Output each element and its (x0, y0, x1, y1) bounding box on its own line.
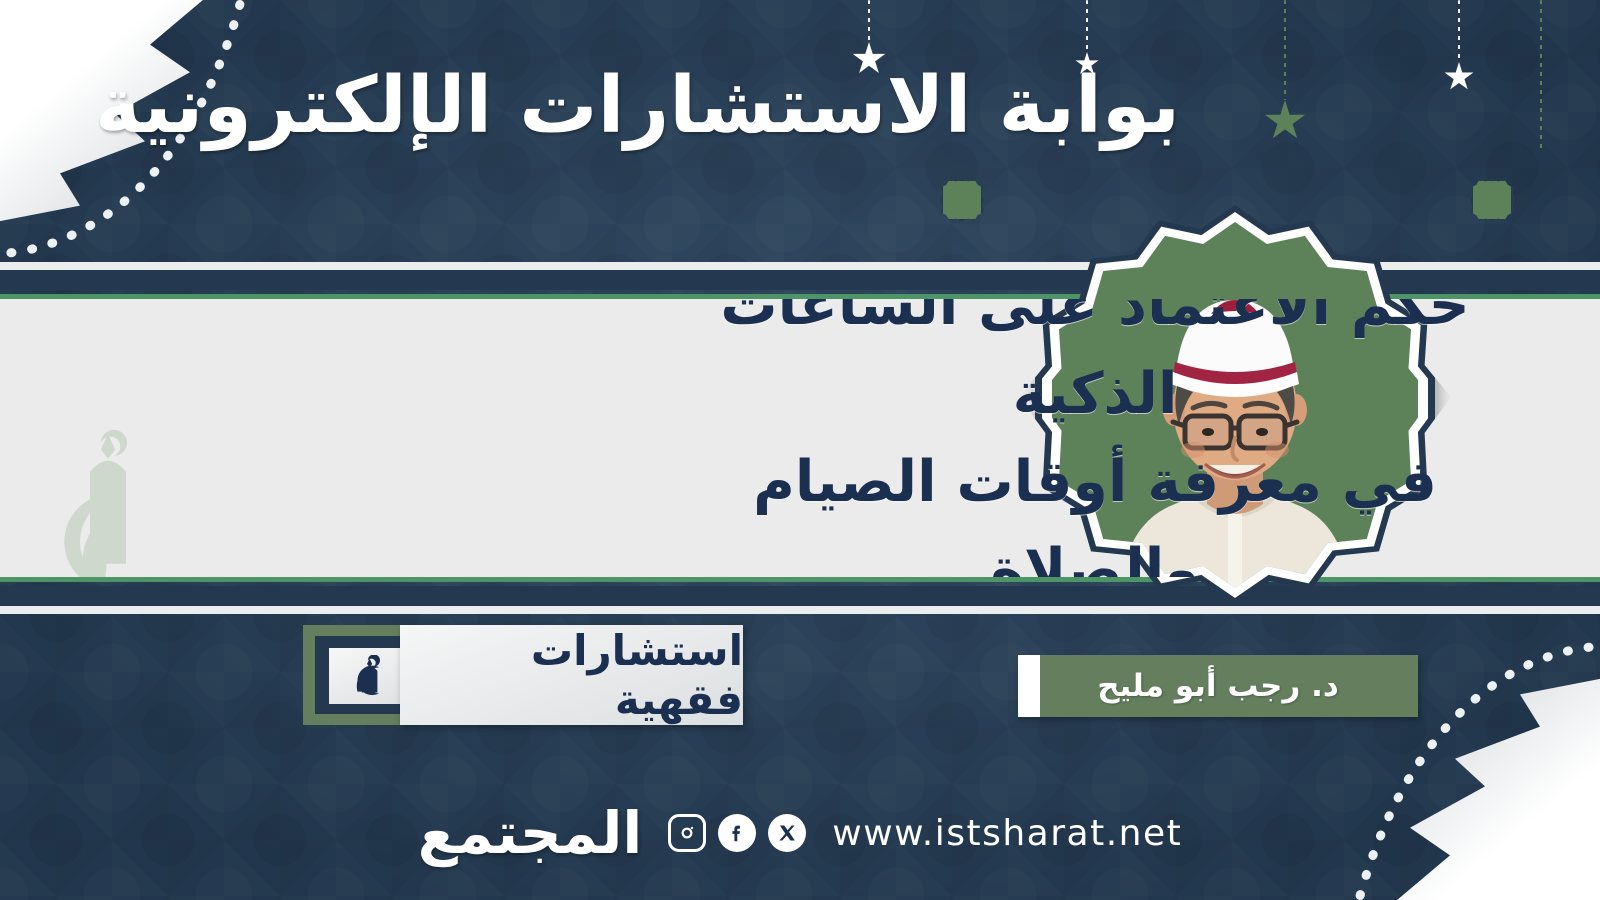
band-white-stripe-bottom (0, 606, 1600, 614)
hanging-thread (1086, 0, 1088, 52)
flower-rosette-ornament-left (940, 178, 984, 222)
hanging-thread (1284, 0, 1286, 100)
star-icon (1444, 62, 1474, 92)
hanging-thread (1540, 0, 1542, 150)
title-line-1: حكم الاعتماد على الساعات الذكية (640, 299, 1550, 438)
poster-canvas: بوابة الاستشارات الإلكترونية حكم الاعتما… (0, 0, 1600, 900)
speaker-name: د. رجب أبو مليح (1097, 668, 1339, 704)
x-twitter-icon[interactable] (768, 814, 806, 852)
badge-accent-bar (1018, 655, 1040, 717)
star-icon (1264, 100, 1306, 142)
star-green-3 (1264, 0, 1306, 142)
hanging-thread (1458, 0, 1460, 62)
hanging-thread (868, 0, 870, 42)
title-band: حكم الاعتماد على الساعات الذكية في معرفة… (0, 262, 1600, 614)
star-white-4 (1444, 0, 1474, 92)
instagram-icon[interactable] (668, 814, 706, 852)
category-panel: استشارات فقهية (400, 625, 743, 725)
brand-logo: المجتمع (418, 804, 643, 862)
social-links[interactable] (668, 814, 806, 852)
title-line-2: في معرفة أوقات الصيام والصلاة (640, 438, 1550, 577)
mosque-crescent-logo (329, 648, 405, 704)
footer: المجتمع www.istsharat.net (0, 790, 1600, 876)
mosque-crescent-watermark (30, 428, 180, 577)
facebook-icon[interactable] (718, 814, 756, 852)
speaker-name-badge: د. رجب أبو مليح (1018, 655, 1418, 717)
header-calligraphy-title: بوابة الاستشارات الإلكترونية (420, 58, 1180, 156)
flower-rosette-ornament-right (1470, 178, 1514, 222)
website-url[interactable]: www.istsharat.net (832, 813, 1182, 854)
category-label: استشارات فقهية (400, 626, 743, 724)
band-body: حكم الاعتماد على الساعات الذكية في معرفة… (0, 299, 1600, 577)
thread-green-5 (1540, 0, 1542, 150)
page-title: حكم الاعتماد على الساعات الذكية في معرفة… (640, 299, 1590, 577)
